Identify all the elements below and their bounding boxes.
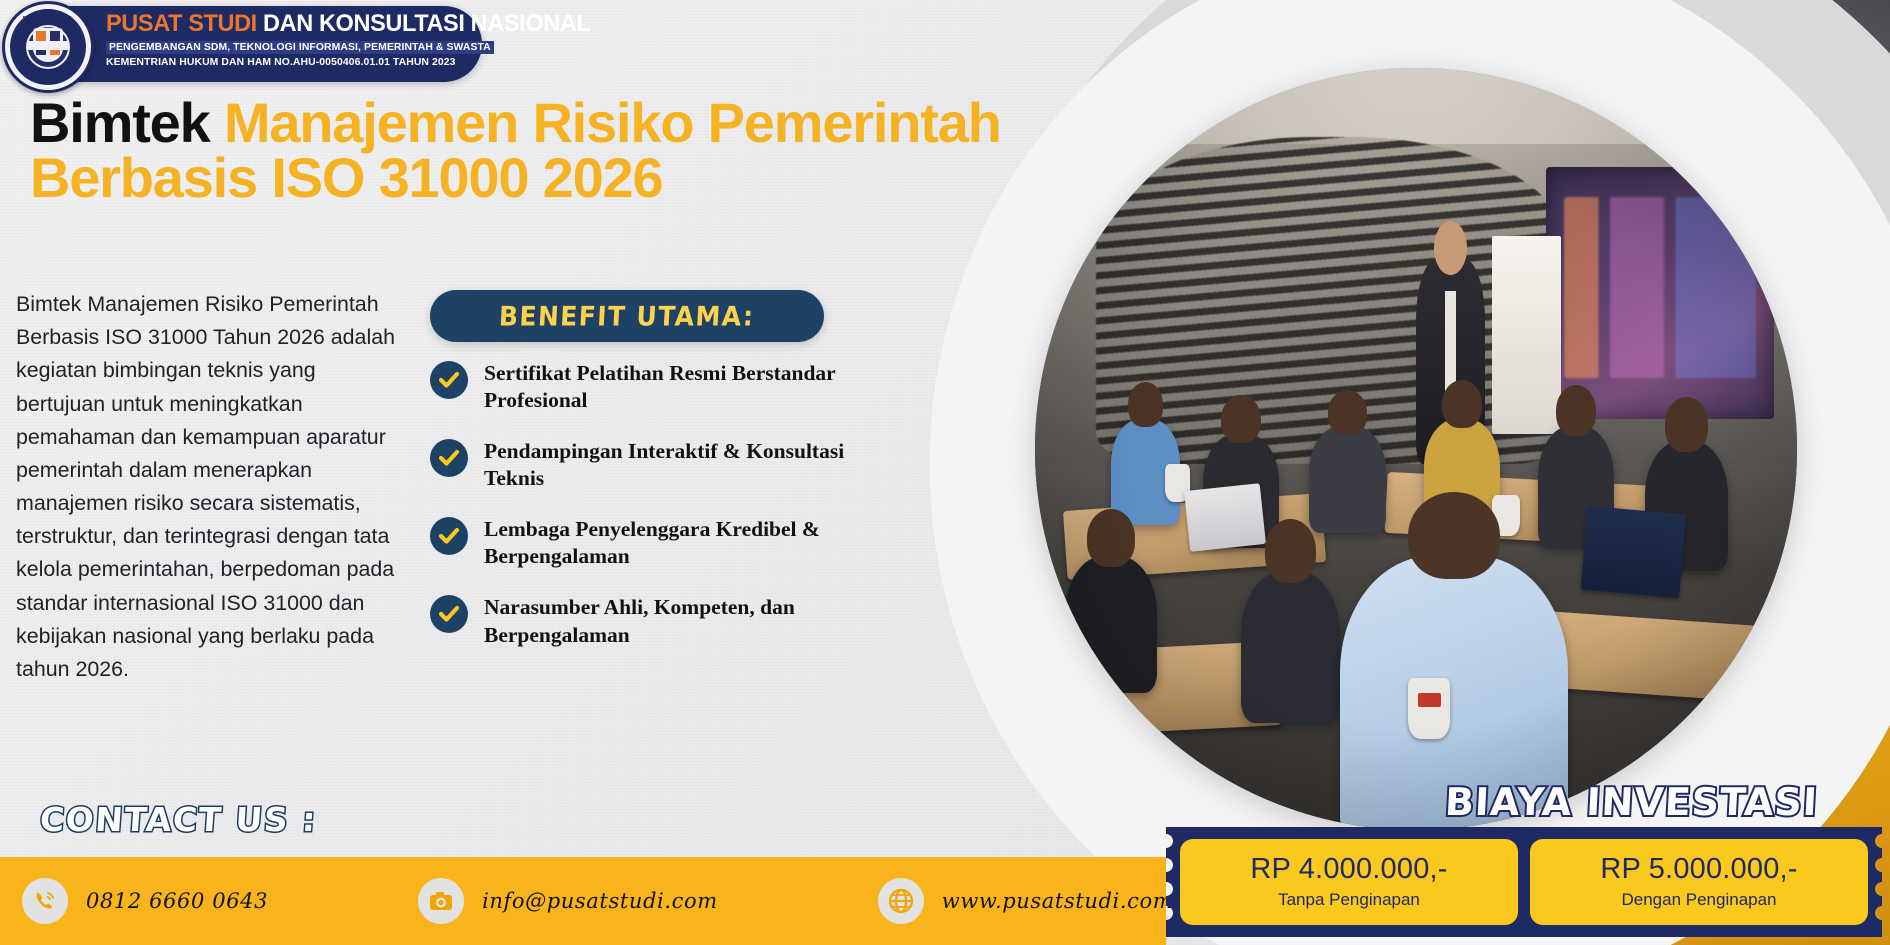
headline-line-1: Bimtek Manajemen Risiko Pemerintah: [30, 96, 990, 151]
book-icon: [27, 41, 69, 50]
benefit-label: Lembaga Penyelenggara Kredibel & Berpeng…: [484, 514, 850, 570]
brand-text-block: PUSAT STUDI DAN KONSULTASI NASIONAL PENG…: [106, 11, 472, 68]
list-item: Sertifikat Pelatihan Resmi Berstandar Pr…: [430, 358, 850, 414]
brand-subtitle-services: PENGEMBANGAN SDM, TEKNOLOGI INFORMASI, P…: [106, 41, 494, 54]
seal-inner-disc: [26, 25, 70, 69]
promotional-banner: PUSAT STUDI DAN KONSULTASI NASIONAL PENG…: [0, 0, 1890, 945]
phone-icon: [22, 878, 68, 924]
price-amount: RP 5.000.000,-: [1600, 854, 1797, 886]
price-note: Tanpa Penginapan: [1278, 890, 1420, 910]
contact-phone[interactable]: 0812 6660 0643: [22, 857, 268, 945]
price-option-card[interactable]: RP 5.000.000,- Dengan Penginapan: [1530, 839, 1868, 925]
benefit-label: Narasumber Ahli, Kompeten, dan Berpengal…: [484, 592, 850, 648]
company-seal-logo: PUSAT STUDI & KONSULTASI NASIONAL: [2, 1, 94, 93]
brand-title: PUSAT STUDI DAN KONSULTASI NASIONAL: [106, 11, 457, 37]
phone-number: 0812 6660 0643: [86, 889, 268, 913]
check-icon: [430, 595, 468, 633]
page-title: Bimtek Manajemen Risiko Pemerintah Berba…: [30, 96, 990, 206]
contact-website[interactable]: www.pusatstudi.com: [878, 857, 1174, 945]
check-icon: [430, 517, 468, 555]
brand-title-part1: PUSAT STUDI: [106, 10, 257, 37]
brand-subtitle-legal: KEMENTRIAN HUKUM DAN HAM NO.AHU-0050406.…: [106, 57, 472, 68]
contact-email[interactable]: info@pusatstudi.com: [418, 857, 718, 945]
pricing-ticket-panel: RP 4.000.000,- Tanpa Penginapan RP 5.000…: [1166, 827, 1882, 937]
benefit-heading-label: BENEFIT UTAMA:: [499, 300, 756, 331]
price-amount: RP 4.000.000,-: [1250, 854, 1447, 886]
description-paragraph: Bimtek Manajemen Risiko Pemerintah Berba…: [16, 288, 408, 686]
camera-icon: [418, 878, 464, 924]
price-note: Dengan Penginapan: [1621, 890, 1776, 910]
list-item: Pendampingan Interaktif & Konsultasi Tek…: [430, 436, 850, 492]
brand-title-part2: DAN KONSULTASI NASIONAL: [263, 10, 590, 37]
headline-line-2: Berbasis ISO 31000 2026: [30, 151, 990, 206]
benefit-list: Sertifikat Pelatihan Resmi Berstandar Pr…: [430, 358, 850, 671]
list-item: Lembaga Penyelenggara Kredibel & Berpeng…: [430, 514, 850, 570]
list-item: Narasumber Ahli, Kompeten, dan Berpengal…: [430, 592, 850, 648]
website-url: www.pusatstudi.com: [942, 889, 1174, 913]
check-icon: [430, 439, 468, 477]
headline-bimtek: Bimtek: [30, 91, 210, 154]
seal-ring: PUSAT STUDI & KONSULTASI NASIONAL: [10, 9, 86, 85]
contact-heading: CONTACT US :: [39, 800, 319, 839]
pricing-heading: BIAYA INVESTASI: [1444, 780, 1819, 824]
headline-topic: Manajemen Risiko Pemerintah: [224, 91, 1001, 154]
benefit-heading-badge: BENEFIT UTAMA:: [430, 290, 824, 342]
price-option-card[interactable]: RP 4.000.000,- Tanpa Penginapan: [1180, 839, 1518, 925]
check-icon: [430, 361, 468, 399]
seminar-photo: [1035, 68, 1797, 830]
photo-vignette: [1035, 68, 1797, 830]
benefit-label: Sertifikat Pelatihan Resmi Berstandar Pr…: [484, 358, 850, 414]
email-address: info@pusatstudi.com: [482, 889, 718, 913]
seal-bottom-label: NASIONAL: [10, 73, 86, 79]
contact-footer-bar: 0812 6660 0643 info@pusatstudi.com: [0, 857, 1166, 945]
benefit-label: Pendampingan Interaktif & Konsultasi Tek…: [484, 436, 850, 492]
globe-icon: [878, 878, 924, 924]
photo-scene: [1035, 68, 1797, 830]
